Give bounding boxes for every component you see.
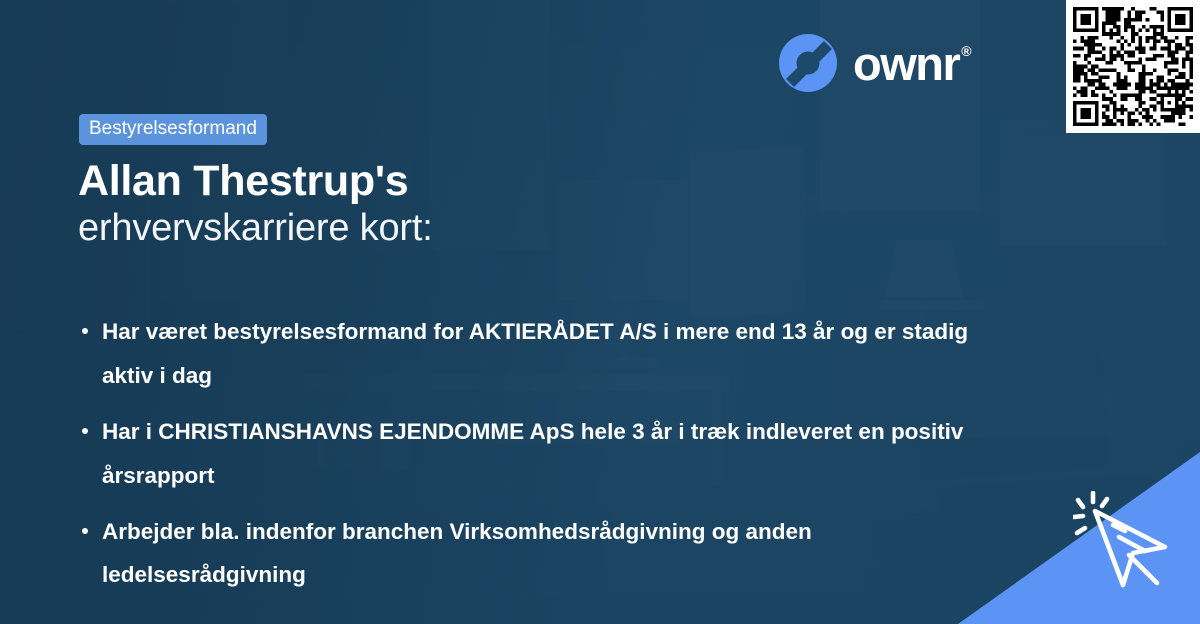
qr-code[interactable] <box>1066 0 1200 133</box>
bullet-dot-icon <box>82 428 88 434</box>
career-highlights-list: Har været bestyrelsesformand for AKTIERÅ… <box>78 310 1008 609</box>
list-item-text: Har været bestyrelsesformand for AKTIERÅ… <box>102 319 968 388</box>
bullet-dot-icon <box>82 328 88 334</box>
click-cursor-icon <box>1073 491 1178 596</box>
list-item-text: Har i CHRISTIANSHAVNS EJENDOMME ApS hele… <box>102 419 963 488</box>
subtitle: erhvervskarriere kort: <box>78 205 838 253</box>
career-card: ownr ® Bestyrelsesformand Allan Thestrup… <box>0 0 1200 624</box>
logo-text: ownr <box>853 40 959 87</box>
list-item: Arbejder bla. indenfor branchen Virksomh… <box>78 510 1002 598</box>
list-item: Har i CHRISTIANSHAVNS EJENDOMME ApS hele… <box>78 410 1002 498</box>
list-item-text: Arbejder bla. indenfor branchen Virksomh… <box>102 519 812 588</box>
ownr-circle-swoosh-icon <box>778 33 838 93</box>
bullet-dot-icon <box>82 528 88 534</box>
page-title: Allan Thestrup's erhvervskarriere kort: <box>78 158 838 253</box>
ownr-wordmark: ownr ® <box>853 40 972 87</box>
person-name: Allan Thestrup's <box>78 158 838 205</box>
qr-code-image <box>1073 7 1193 126</box>
ownr-logo[interactable]: ownr ® <box>778 33 972 93</box>
list-item: Har været bestyrelsesformand for AKTIERÅ… <box>78 310 1002 398</box>
registered-trademark-icon: ® <box>961 44 971 58</box>
role-badge: Bestyrelsesformand <box>79 114 267 145</box>
